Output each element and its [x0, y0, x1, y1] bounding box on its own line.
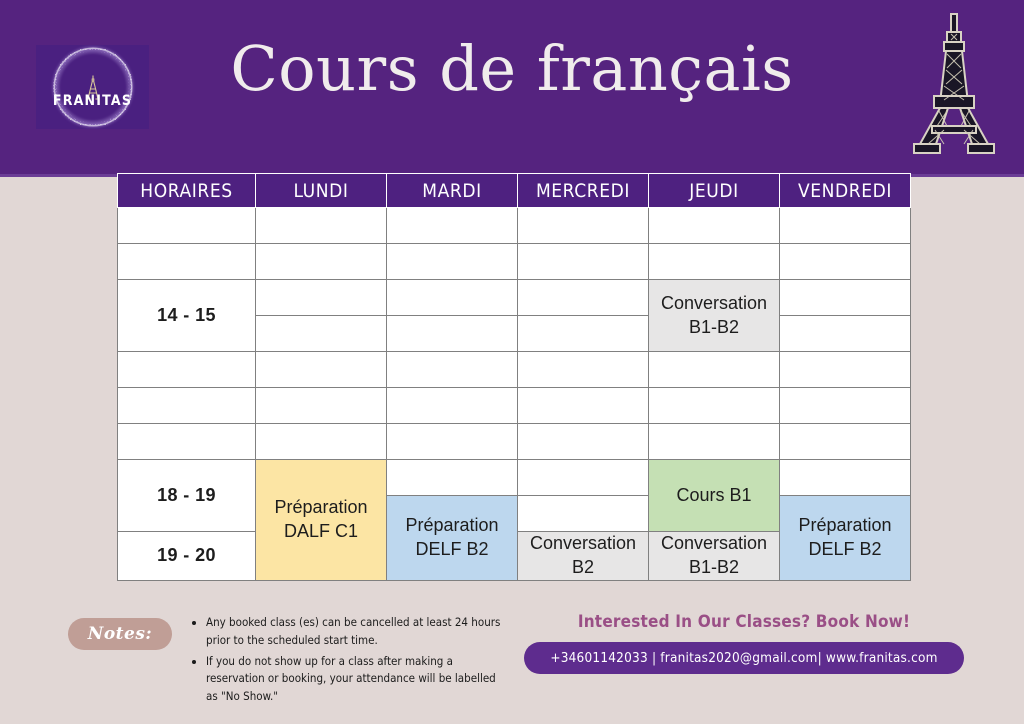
column-header-horaires: HORAIRES: [118, 174, 256, 208]
cell-vendredi-empty[interactable]: [780, 244, 911, 280]
cell-vendredi-empty[interactable]: [780, 424, 911, 460]
cell-mercredi-empty[interactable]: [518, 388, 649, 424]
contact-details-pill[interactable]: +34601142033 | franitas2020@gmail.com| w…: [524, 642, 964, 674]
cell-mardi-empty[interactable]: [387, 424, 518, 460]
cell-mardi-empty[interactable]: [387, 388, 518, 424]
cell-lundi-empty[interactable]: [256, 316, 387, 352]
cell-mardi-empty[interactable]: [387, 460, 518, 496]
class-block-line1: Préparation: [274, 497, 367, 517]
cell-mercredi-empty[interactable]: [518, 496, 649, 532]
class-block-line1: Préparation: [798, 515, 891, 535]
cell-jeudi-empty[interactable]: [649, 424, 780, 460]
class-block-line1: Conversation: [530, 533, 636, 553]
column-header-lundi: LUNDI: [256, 174, 387, 208]
class-block-line2: B1-B2: [689, 317, 739, 337]
schedule-table: HORAIRES LUNDI MARDI MERCREDI JEUDI VEND…: [117, 173, 911, 581]
class-block-preparation-dalf-c1-lundi[interactable]: Préparation DALF C1: [256, 460, 387, 581]
header-band: FRANITAS Cours de français: [0, 0, 1024, 177]
cell-mercredi-empty[interactable]: [518, 208, 649, 244]
column-header-vendredi: VENDREDI: [780, 174, 911, 208]
cell-jeudi-empty[interactable]: [649, 352, 780, 388]
class-block-conversation-b1-b2-jeudi-evening[interactable]: Conversation B1-B2: [649, 532, 780, 581]
cell-mardi-empty[interactable]: [387, 244, 518, 280]
eiffel-tower-icon: [906, 8, 1002, 165]
contact-section: Interested In Our Classes? Book Now! +34…: [524, 612, 964, 674]
class-block-line1: Conversation: [661, 533, 767, 553]
class-block-line2: DELF B2: [808, 539, 881, 559]
cell-mardi-empty[interactable]: [387, 352, 518, 388]
cell-lundi-empty[interactable]: [256, 208, 387, 244]
cell-mercredi-empty[interactable]: [518, 244, 649, 280]
cell-horaires-empty[interactable]: [118, 244, 256, 280]
class-block-line2: B2: [572, 557, 594, 577]
table-row: [118, 244, 911, 280]
table-row: [118, 352, 911, 388]
cell-mercredi-empty[interactable]: [518, 424, 649, 460]
cell-jeudi-empty[interactable]: [649, 208, 780, 244]
cell-vendredi-empty[interactable]: [780, 208, 911, 244]
cell-mardi-empty[interactable]: [387, 280, 518, 316]
cell-horaires-empty[interactable]: [118, 208, 256, 244]
class-block-line1: Cours B1: [676, 485, 751, 505]
cell-lundi-empty[interactable]: [256, 388, 387, 424]
cell-mercredi-empty[interactable]: [518, 280, 649, 316]
cell-horaires-empty[interactable]: [118, 424, 256, 460]
notes-badge: Notes:: [68, 618, 172, 650]
booking-cta-text: Interested In Our Classes? Book Now!: [524, 612, 964, 632]
class-block-line1: Préparation: [405, 515, 498, 535]
notes-list: Any booked class (es) can be cancelled a…: [172, 614, 506, 709]
list-item: If you do not show up for a class after …: [206, 653, 506, 706]
cell-lundi-empty[interactable]: [256, 352, 387, 388]
schedule-table-wrapper: HORAIRES LUNDI MARDI MERCREDI JEUDI VEND…: [117, 173, 910, 581]
cell-jeudi-empty[interactable]: [649, 388, 780, 424]
notes-section: Notes: Any booked class (es) can be canc…: [68, 614, 538, 709]
contact-details-text: +34601142033 | franitas2020@gmail.com| w…: [550, 650, 937, 666]
cell-horaires-empty[interactable]: [118, 352, 256, 388]
table-row: [118, 208, 911, 244]
cell-hour-19-20: 19 - 20: [118, 532, 256, 581]
class-block-line2: B1-B2: [689, 557, 739, 577]
class-block-conversation-b1-b2-jeudi-afternoon[interactable]: Conversation B1-B2: [649, 280, 780, 352]
cell-vendredi-empty[interactable]: [780, 352, 911, 388]
list-item: Any booked class (es) can be cancelled a…: [206, 614, 506, 650]
cell-hour-18-19: 18 - 19: [118, 460, 256, 532]
class-block-line1: Conversation: [661, 293, 767, 313]
page-title: Cours de français: [0, 36, 1024, 101]
class-block-cours-b1-jeudi[interactable]: Cours B1: [649, 460, 780, 532]
cell-horaires-empty[interactable]: [118, 388, 256, 424]
cell-mardi-empty[interactable]: [387, 208, 518, 244]
cell-lundi-empty[interactable]: [256, 244, 387, 280]
cell-mercredi-empty[interactable]: [518, 352, 649, 388]
table-row: 14 - 15 Conversation B1-B2: [118, 280, 911, 316]
class-block-line2: DALF C1: [284, 521, 358, 541]
class-block-line2: DELF B2: [415, 539, 488, 559]
table-header-row: HORAIRES LUNDI MARDI MERCREDI JEUDI VEND…: [118, 174, 911, 208]
table-row: [118, 388, 911, 424]
cell-lundi-empty[interactable]: [256, 424, 387, 460]
cell-mercredi-empty[interactable]: [518, 316, 649, 352]
cell-jeudi-empty[interactable]: [649, 244, 780, 280]
class-block-conversation-b2-mercredi[interactable]: Conversation B2: [518, 532, 649, 581]
cell-mercredi-empty[interactable]: [518, 460, 649, 496]
table-row: 18 - 19 Préparation DALF C1 Cours B1: [118, 460, 911, 496]
cell-lundi-empty[interactable]: [256, 280, 387, 316]
cell-vendredi-empty[interactable]: [780, 460, 911, 496]
table-row: [118, 424, 911, 460]
class-block-preparation-delf-b2-mardi[interactable]: Préparation DELF B2: [387, 496, 518, 581]
cell-mardi-empty[interactable]: [387, 316, 518, 352]
column-header-mardi: MARDI: [387, 174, 518, 208]
column-header-jeudi: JEUDI: [649, 174, 780, 208]
cell-vendredi-empty[interactable]: [780, 280, 911, 316]
column-header-mercredi: MERCREDI: [518, 174, 649, 208]
class-block-preparation-delf-b2-vendredi[interactable]: Préparation DELF B2: [780, 496, 911, 581]
cell-vendredi-empty[interactable]: [780, 388, 911, 424]
cell-vendredi-empty[interactable]: [780, 316, 911, 352]
cell-hour-14-15: 14 - 15: [118, 280, 256, 352]
